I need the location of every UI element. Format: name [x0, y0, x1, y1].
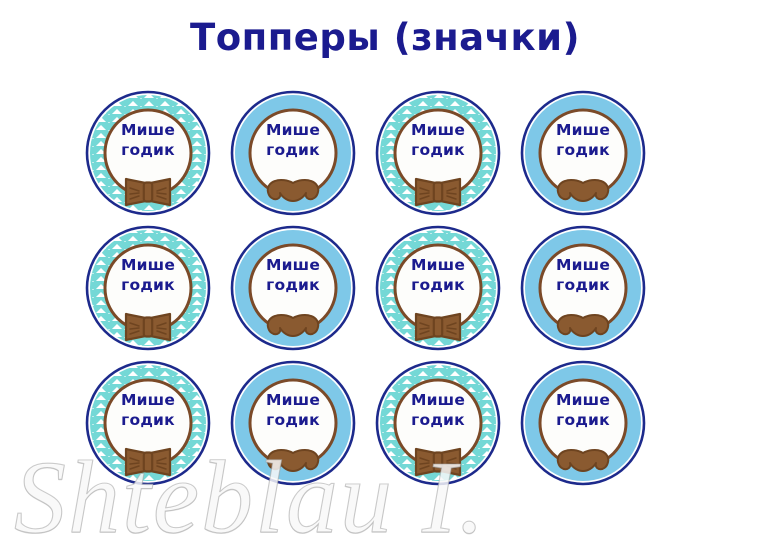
bowtie-icon: [416, 314, 460, 340]
badge-2[interactable]: Мише годик: [230, 90, 356, 216]
mustache-icon: [558, 450, 608, 471]
mustache-icon: [268, 315, 318, 336]
page-title: Топперы (значки): [0, 16, 770, 59]
badge-6[interactable]: Мише годик: [230, 225, 356, 351]
bowtie-icon: [126, 179, 170, 205]
bowtie-icon: [126, 314, 170, 340]
bowtie-icon: [126, 449, 170, 475]
bowtie-icon: [416, 449, 460, 475]
badge-5[interactable]: Мише годик: [85, 225, 211, 351]
badge-1[interactable]: Мише годик: [85, 90, 211, 216]
badge-12[interactable]: Мише годик: [520, 360, 646, 486]
badge-8[interactable]: Мише годик: [520, 225, 646, 351]
badge-7[interactable]: Мише годик: [375, 225, 501, 351]
mustache-icon: [558, 315, 608, 336]
mustache-icon: [268, 180, 318, 201]
badge-3[interactable]: Мише годик: [375, 90, 501, 216]
badge-11[interactable]: Мише годик: [375, 360, 501, 486]
badge-4[interactable]: Мише годик: [520, 90, 646, 216]
bowtie-icon: [416, 179, 460, 205]
mustache-icon: [558, 180, 608, 201]
badge-10[interactable]: Мише годик: [230, 360, 356, 486]
mustache-icon: [268, 450, 318, 471]
badge-9[interactable]: Мише годик: [85, 360, 211, 486]
badge-grid: Мише годик Мише годик: [85, 90, 685, 510]
